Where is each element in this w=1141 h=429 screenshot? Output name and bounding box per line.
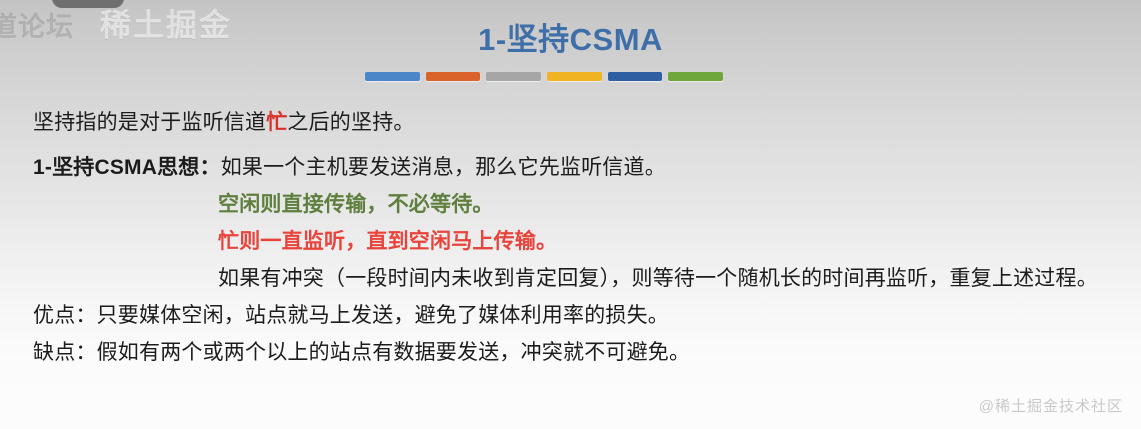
definition-part-2: 之后的坚持。 bbox=[287, 111, 414, 134]
slide-body: 坚持指的是对于监听信道忙之后的坚持。 1-坚持CSMA思想：如果一个主机要发送消… bbox=[33, 104, 1133, 371]
divider-segment-3 bbox=[486, 72, 541, 81]
divider-segment-1 bbox=[365, 72, 420, 81]
body-line-busy-case: 忙则一直监听，直到空闲马上传输。 bbox=[33, 223, 1133, 260]
divider-segment-6 bbox=[668, 72, 723, 81]
definition-part-1: 坚持指的是对于监听信道 bbox=[33, 111, 266, 134]
concept-text: 如果一个主机要发送消息，那么它先监听信道。 bbox=[221, 156, 666, 179]
body-line-definition: 坚持指的是对于监听信道忙之后的坚持。 bbox=[33, 104, 1133, 141]
body-line-concept: 1-坚持CSMA思想：如果一个主机要发送消息，那么它先监听信道。 bbox=[33, 149, 1133, 186]
definition-highlight-busy: 忙 bbox=[266, 111, 287, 134]
divider-segment-4 bbox=[547, 72, 602, 81]
divider-segment-5 bbox=[608, 72, 663, 81]
body-line-collision-case: 如果有冲突（一段时间内未收到肯定回复），则等待一个随机长的时间再监听，重复上述过… bbox=[33, 260, 1133, 297]
slide-title: 1-坚持CSMA bbox=[0, 20, 1141, 60]
body-line-idle-case: 空闲则直接传输，不必等待。 bbox=[33, 186, 1133, 223]
divider-bars bbox=[365, 72, 723, 81]
concept-label: 1-坚持CSMA思想： bbox=[33, 156, 221, 179]
slide-canvas: 道论坛 稀土掘金 1-坚持CSMA 坚持指的是对于监听信道忙之后的坚持。 1-坚… bbox=[0, 0, 1141, 429]
body-line-advantage: 优点：只要媒体空闲，站点就马上发送，避免了媒体利用率的损失。 bbox=[33, 297, 1133, 334]
watermark-bottom-right: @稀土掘金技术社区 bbox=[979, 397, 1123, 417]
divider-segment-2 bbox=[426, 72, 481, 81]
body-line-disadvantage: 缺点：假如有两个或两个以上的站点有数据要发送，冲突就不可避免。 bbox=[33, 334, 1133, 371]
